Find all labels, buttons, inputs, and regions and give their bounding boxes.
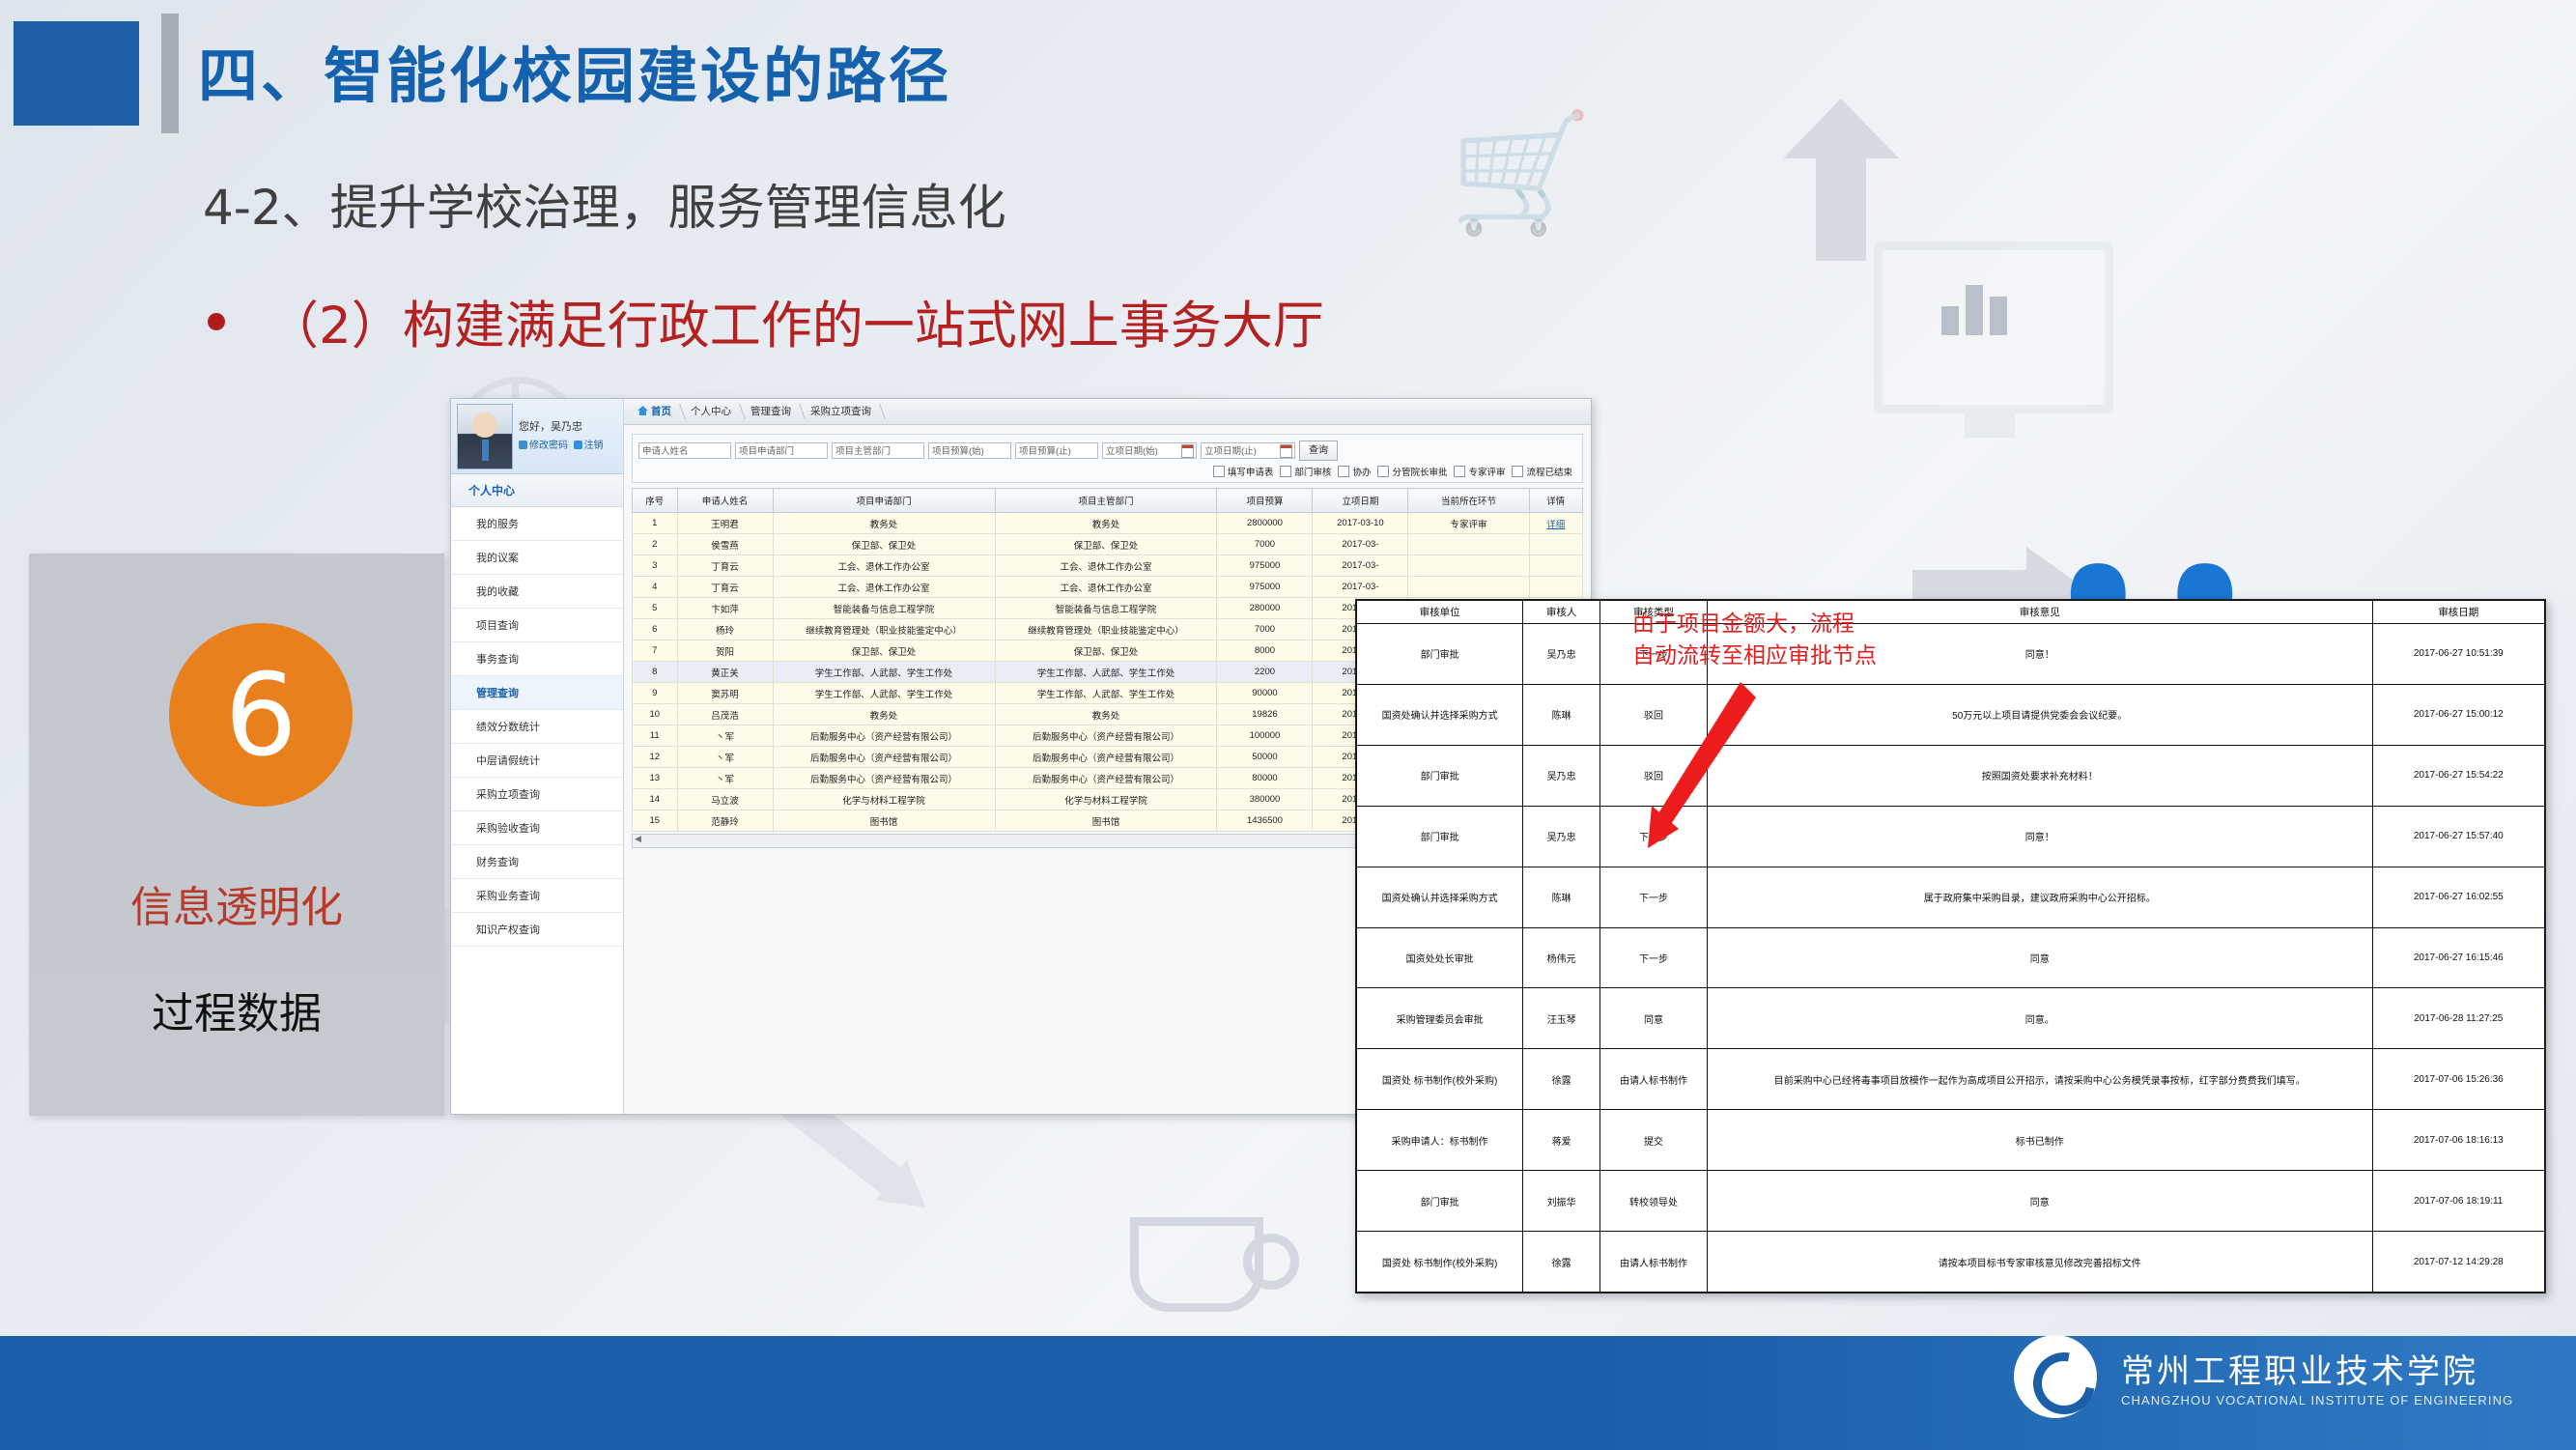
- table-cell: 化学与材料工程学院: [995, 789, 1217, 810]
- table-header-cell: 详情: [1529, 489, 1582, 513]
- approval-cell: 由请人标书制作: [1600, 1049, 1708, 1110]
- filter-input-row: 申请人姓名 项目申请部门 项目主管部门 项目预算(始) 项目预算(止) 立项日期…: [638, 441, 1576, 461]
- approval-cell: 属于政府集中采购目录，建议政府采购中心公开招标。: [1707, 867, 2372, 927]
- table-cell: 2017-03-: [1313, 577, 1408, 598]
- approval-cell: 由请人标书制作: [1600, 1232, 1708, 1293]
- approval-row: 采购申请人：标书制作蒋爱提交标书已制作2017-07-06 18:16:13: [1357, 1110, 2545, 1171]
- table-cell: 1: [633, 513, 678, 534]
- step-number-badge: 6: [169, 623, 353, 807]
- page-title: 四、智能化校园建设的路径: [198, 27, 951, 114]
- table-cell: 8: [633, 662, 678, 683]
- filter-checkbox-4[interactable]: 专家评审: [1454, 465, 1505, 478]
- university-logo: [2014, 1335, 2097, 1418]
- table-header-cell: 项目主管部门: [995, 489, 1217, 513]
- table-cell: 丁育云: [677, 577, 773, 598]
- approval-history-overlay: 审核单位审核人审核类型审核意见审核日期 部门审批吴乃忠下一步同意！2017-06…: [1355, 599, 2546, 1294]
- sidebar-item-3[interactable]: 项目查询: [451, 609, 623, 642]
- table-cell: 专家评审: [1408, 513, 1529, 534]
- approval-cell: 采购管理委员会审批: [1357, 988, 1523, 1049]
- checkbox-box[interactable]: [1454, 466, 1465, 477]
- table-cell: 后勤服务中心（资产经营有限公司）: [995, 768, 1217, 789]
- tab-3[interactable]: 采购立项查询: [803, 402, 883, 421]
- approval-cell: 2017-07-06 15:26:36: [2372, 1049, 2544, 1110]
- table-cell: 975000: [1217, 555, 1313, 577]
- table-cell: 280000: [1217, 598, 1313, 619]
- table-cell: 后勤服务中心（资产经营有限公司）: [773, 725, 995, 747]
- approval-cell: 陈琳: [1523, 684, 1600, 745]
- gear-icon: [519, 441, 527, 449]
- table-cell: 90000: [1217, 683, 1313, 704]
- bar-chart-icon: [1941, 285, 2014, 335]
- table-cell: 3: [633, 555, 678, 577]
- table-cell: 王明君: [677, 513, 773, 534]
- approval-row: 国资处 标书制作(校外采购)徐露由请人标书制作请按本项目标书专家审核意见修改完善…: [1357, 1232, 2545, 1293]
- apply-dept-input[interactable]: 项目申请部门: [735, 442, 828, 459]
- university-name-cn: 常州工程职业技术学院: [2121, 1345, 2478, 1392]
- table-cell: 9: [633, 683, 678, 704]
- table-header-row: 序号申请人姓名项目申请部门项目主管部门项目预算立项日期当前所在环节详情: [633, 489, 1583, 513]
- approval-cell: 转校领导处: [1600, 1171, 1708, 1232]
- table-cell: 图书馆: [773, 810, 995, 832]
- date-to-wrap: 立项日期(止): [1201, 442, 1295, 459]
- filter-checkbox-3[interactable]: 分管院长审批: [1377, 465, 1447, 478]
- approval-header-cell: 审核人: [1523, 601, 1600, 624]
- approval-row: 部门审批吴乃忠下一步同意！2017-06-27 15:57:40: [1357, 806, 2545, 867]
- table-cell: 详细: [1529, 513, 1582, 534]
- checkbox-box[interactable]: [1280, 466, 1291, 477]
- table-cell: 50000: [1217, 747, 1313, 768]
- table-row[interactable]: 1王明君教务处教务处28000002017-03-10专家评审详细: [633, 513, 1583, 534]
- approval-cell: 吴乃忠: [1523, 745, 1600, 806]
- table-cell: 教务处: [773, 513, 995, 534]
- table-cell: 工会、退休工作办公室: [995, 577, 1217, 598]
- logout-icon: [574, 441, 582, 449]
- filter-checkbox-1[interactable]: 部门审核: [1280, 465, 1331, 478]
- sidebar-header: 个人中心: [451, 474, 623, 507]
- approval-row: 部门审批吴乃忠驳回按照国资处要求补充材料！2017-06-27 15:54:22: [1357, 745, 2545, 806]
- table-cell: 吕茂浩: [677, 704, 773, 725]
- table-cell: 保卫部、保卫处: [995, 640, 1217, 662]
- table-cell: 11: [633, 725, 678, 747]
- calendar-icon[interactable]: [1181, 444, 1194, 458]
- approval-cell: 2017-06-27 15:00:12: [2372, 684, 2544, 745]
- approval-cell: 吴乃忠: [1523, 624, 1600, 685]
- approval-cell: 提交: [1600, 1110, 1708, 1171]
- sidebar-item-7[interactable]: 中层请假统计: [451, 744, 623, 778]
- table-cell: 2017-03-10: [1313, 513, 1408, 534]
- sidebar-item-10[interactable]: 财务查询: [451, 845, 623, 879]
- date-from-wrap: 立项日期(始): [1102, 442, 1197, 459]
- table-cell: 窦苏明: [677, 683, 773, 704]
- table-cell: 范静玲: [677, 810, 773, 832]
- filter-checkbox-0[interactable]: 填写申请表: [1213, 465, 1274, 478]
- approval-cell: 目前采购中心已经将毒事项目放模作一起作为高成项目公开招示，请按采购中心公务模凭录…: [1707, 1049, 2372, 1110]
- table-cell: [1408, 534, 1529, 555]
- approval-cell: 国资处确认并选择采购方式: [1357, 867, 1523, 927]
- table-cell: 智能装备与信息工程学院: [773, 598, 995, 619]
- table-cell: 保卫部、保卫处: [773, 640, 995, 662]
- approval-cell: 2017-06-27 10:51:39: [2372, 624, 2544, 685]
- approval-cell: 2017-06-28 11:27:25: [2372, 988, 2544, 1049]
- approval-cell: 2017-06-27 15:54:22: [2372, 745, 2544, 806]
- table-cell: 学生工作部、人武部、学生工作处: [773, 662, 995, 683]
- tab-0[interactable]: 首页: [630, 402, 683, 421]
- table-cell: 工会、退休工作办公室: [773, 577, 995, 598]
- shopping-cart-icon: 🛒: [1449, 106, 1593, 242]
- tab-1[interactable]: 个人中心: [683, 402, 743, 421]
- table-cell: 后勤服务中心（资产经营有限公司）: [995, 725, 1217, 747]
- approval-cell: 2017-06-27 15:57:40: [2372, 806, 2544, 867]
- sidebar-item-1[interactable]: 我的议案: [451, 541, 623, 575]
- search-button[interactable]: 查询: [1299, 441, 1338, 461]
- approval-cell: 部门审批: [1357, 1171, 1523, 1232]
- table-cell: 19826: [1217, 704, 1313, 725]
- approval-row: 部门审批刘振华转校领导处同意2017-07-06 18:19:11: [1357, 1171, 2545, 1232]
- sidebar-item-4[interactable]: 事务查询: [451, 642, 623, 676]
- table-cell: 工会、退休工作办公室: [773, 555, 995, 577]
- table-cell: 保卫部、保卫处: [773, 534, 995, 555]
- table-header-cell: 项目申请部门: [773, 489, 995, 513]
- table-cell: 5: [633, 598, 678, 619]
- approval-cell: 同意。: [1707, 988, 2372, 1049]
- approval-cell: 国资处 标书制作(校外采购): [1357, 1049, 1523, 1110]
- title-accent-bar: [161, 14, 179, 133]
- detail-link[interactable]: 详细: [1546, 520, 1565, 530]
- table-cell: 马立波: [677, 789, 773, 810]
- table-cell: 继续教育管理处（职业技能鉴定中心）: [995, 619, 1217, 640]
- coffee-cup-icon: [1130, 1217, 1263, 1312]
- sidebar-item-5[interactable]: 管理查询: [451, 676, 623, 710]
- table-cell: 8000: [1217, 640, 1313, 662]
- table-cell: [1529, 534, 1582, 555]
- table-cell: 13: [633, 768, 678, 789]
- table-cell: 15: [633, 810, 678, 832]
- university-name-en: CHANGZHOU VOCATIONAL INSTITUTE OF ENGINE…: [2121, 1393, 2513, 1407]
- table-cell: 6: [633, 619, 678, 640]
- table-row[interactable]: 2侯雪燕保卫部、保卫处保卫部、保卫处70002017-03-: [633, 534, 1583, 555]
- approval-cell: 标书已制作: [1707, 1110, 2372, 1171]
- approval-row: 国资处确认并选择采购方式陈琳下一步属于政府集中采购目录，建议政府采购中心公开招标…: [1357, 867, 2545, 927]
- table-cell: 贺阳: [677, 640, 773, 662]
- budget-from-input[interactable]: 项目预算(始): [928, 442, 1011, 459]
- table-cell: 智能装备与信息工程学院: [995, 598, 1217, 619]
- table-header-cell: 立项日期: [1313, 489, 1408, 513]
- approval-cell: 下一步: [1600, 927, 1708, 988]
- table-cell: 学生工作部、人武部、学生工作处: [995, 683, 1217, 704]
- applicant-name-input[interactable]: 申请人姓名: [638, 442, 731, 459]
- approval-cell: 同意: [1707, 1171, 2372, 1232]
- tab-2[interactable]: 管理查询: [743, 402, 803, 421]
- sidebar-item-12[interactable]: 知识产权查询: [451, 913, 623, 947]
- table-cell: 80000: [1217, 768, 1313, 789]
- filter-checkbox-row: 填写申请表部门审核协办分管院长审批专家评审流程已结束: [638, 465, 1576, 478]
- approval-cell: 蒋爱: [1523, 1110, 1600, 1171]
- table-cell: 侯雪燕: [677, 534, 773, 555]
- table-cell: 丶军: [677, 725, 773, 747]
- approval-cell: 徐露: [1523, 1049, 1600, 1110]
- sidebar-item-2[interactable]: 我的收藏: [451, 575, 623, 609]
- approval-cell: 汪玉琴: [1523, 988, 1600, 1049]
- approval-cell: 徐露: [1523, 1232, 1600, 1293]
- approval-cell: 2017-06-27 16:15:46: [2372, 927, 2544, 988]
- table-cell: [1408, 577, 1529, 598]
- table-cell: 教务处: [995, 704, 1217, 725]
- approval-header-row: 审核单位审核人审核类型审核意见审核日期: [1357, 601, 2545, 624]
- page-subtitle: 4-2、提升学校治理，服务管理信息化: [203, 169, 1006, 239]
- bullet-dot-icon: [208, 313, 225, 330]
- table-cell: 后勤服务中心（资产经营有限公司）: [773, 747, 995, 768]
- table-cell: 14: [633, 789, 678, 810]
- approval-table: 审核单位审核人审核类型审核意见审核日期 部门审批吴乃忠下一步同意！2017-06…: [1356, 600, 2545, 1293]
- table-cell: 975000: [1217, 577, 1313, 598]
- budget-to-input[interactable]: 项目预算(止): [1015, 442, 1098, 459]
- approval-row: 部门审批吴乃忠下一步同意！2017-06-27 10:51:39: [1357, 624, 2545, 685]
- table-header-cell: 项目预算: [1217, 489, 1313, 513]
- table-cell: 380000: [1217, 789, 1313, 810]
- table-cell: 丁育云: [677, 555, 773, 577]
- table-cell: 卞如萍: [677, 598, 773, 619]
- avatar: [457, 404, 513, 469]
- sidebar-item-list: 我的服务我的议案我的收藏项目查询事务查询管理查询绩效分数统计中层请假统计采购立项…: [451, 507, 623, 947]
- filter-checkbox-2[interactable]: 协办: [1338, 465, 1371, 478]
- table-cell: 杨玲: [677, 619, 773, 640]
- bullet-line: （2）构建满足行政工作的一站式网上事务大厅: [208, 285, 1324, 358]
- annotation-line-1: 由于项目金额大，流程: [1632, 609, 1877, 640]
- approval-row: 国资处处长审批杨伟元下一步同意2017-06-27 16:15:46: [1357, 927, 2545, 988]
- table-cell: 2800000: [1217, 513, 1313, 534]
- approval-cell: 陈琳: [1523, 867, 1600, 927]
- table-cell: 图书馆: [995, 810, 1217, 832]
- greeting-text: 您好，吴乃忠: [519, 419, 604, 436]
- table-cell: 保卫部、保卫处: [995, 534, 1217, 555]
- approval-header-cell: 审核单位: [1357, 601, 1523, 624]
- table-cell: 2017-03-: [1313, 534, 1408, 555]
- checkbox-box[interactable]: [1512, 466, 1523, 477]
- approval-row: 国资处 标书制作(校外采购)徐露由请人标书制作目前采购中心已经将毒事项目放模作一…: [1357, 1049, 2545, 1110]
- table-header-cell: 申请人姓名: [677, 489, 773, 513]
- user-action-links: 修改密码 注销: [519, 439, 604, 453]
- annotation-line-2: 自动流转至相应审批节点: [1632, 640, 1877, 672]
- approval-cell: 同意: [1707, 927, 2372, 988]
- table-cell: 1436500: [1217, 810, 1313, 832]
- table-cell: [1408, 555, 1529, 577]
- table-cell: [1529, 555, 1582, 577]
- table-cell: 学生工作部、人武部、学生工作处: [773, 683, 995, 704]
- checkbox-box[interactable]: [1213, 466, 1225, 477]
- bullet-text: （2）构建满足行政工作的一站式网上事务大厅: [268, 285, 1324, 358]
- approval-header-cell: 审核日期: [2372, 601, 2544, 624]
- table-cell: 7: [633, 640, 678, 662]
- change-password-link[interactable]: 修改密码: [529, 441, 568, 451]
- filter-checkbox-5[interactable]: 流程已结束: [1512, 465, 1572, 478]
- table-cell: [1529, 577, 1582, 598]
- panel-black-label: 过程数据: [29, 979, 444, 1040]
- table-cell: 黄正关: [677, 662, 773, 683]
- table-cell: 7000: [1217, 619, 1313, 640]
- table-cell: 12: [633, 747, 678, 768]
- approval-cell: 国资处 标书制作(校外采购): [1357, 1232, 1523, 1293]
- table-cell: 工会、退休工作办公室: [995, 555, 1217, 577]
- approval-row: 采购管理委员会审批汪玉琴同意同意。2017-06-28 11:27:25: [1357, 988, 2545, 1049]
- table-cell: 化学与材料工程学院: [773, 789, 995, 810]
- approval-cell: 同意: [1600, 988, 1708, 1049]
- table-cell: 丶军: [677, 747, 773, 768]
- up-arrow-decoration: [1816, 155, 1866, 261]
- approval-cell: 按照国资处要求补充材料！: [1707, 745, 2372, 806]
- table-header-cell: 当前所在环节: [1408, 489, 1529, 513]
- calendar-icon[interactable]: [1280, 444, 1292, 458]
- approval-cell: 同意！: [1707, 806, 2372, 867]
- panel-red-label: 信息透明化: [29, 872, 444, 934]
- sidebar-item-11[interactable]: 采购业务查询: [451, 879, 623, 913]
- user-profile-box: 您好，吴乃忠 修改密码 注销: [451, 399, 623, 474]
- user-meta: 您好，吴乃忠 修改密码 注销: [519, 419, 604, 454]
- table-cell: 2: [633, 534, 678, 555]
- annotation-arrow-icon: [1632, 676, 1787, 850]
- annotation-text: 由于项目金额大，流程 自动流转至相应审批节点: [1632, 609, 1877, 673]
- table-cell: 100000: [1217, 725, 1313, 747]
- approval-body: 部门审批吴乃忠下一步同意！2017-06-27 10:51:39国资处确认并选择…: [1357, 624, 2545, 1293]
- filter-panel: 申请人姓名 项目申请部门 项目主管部门 项目预算(始) 项目预算(止) 立项日期…: [632, 434, 1583, 483]
- approval-cell: 刘振华: [1523, 1171, 1600, 1232]
- table-header-cell: 序号: [633, 489, 678, 513]
- checkbox-box[interactable]: [1338, 466, 1349, 477]
- approval-cell: 下一步: [1600, 867, 1708, 927]
- approval-cell: 2017-06-27 16:02:55: [2372, 867, 2544, 927]
- logout-link[interactable]: 注销: [584, 441, 604, 451]
- approval-cell: 部门审批: [1357, 806, 1523, 867]
- sidebar-item-0[interactable]: 我的服务: [451, 507, 623, 541]
- table-cell: 7000: [1217, 534, 1313, 555]
- checkbox-box[interactable]: [1377, 466, 1389, 477]
- table-cell: 后勤服务中心（资产经营有限公司）: [773, 768, 995, 789]
- sidebar-item-9[interactable]: 采购验收查询: [451, 811, 623, 845]
- approval-cell: 采购申请人：标书制作: [1357, 1110, 1523, 1171]
- table-row[interactable]: 4丁育云工会、退休工作办公室工会、退休工作办公室9750002017-03-: [633, 577, 1583, 598]
- approval-cell: 2017-07-12 14:29:28: [2372, 1232, 2544, 1293]
- approval-row: 国资处确认并选择采购方式陈琳驳回50万元以上项目请提供党委会会议纪要。2017-…: [1357, 684, 2545, 745]
- approval-cell: 2017-07-06 18:16:13: [2372, 1110, 2544, 1171]
- approval-cell: 吴乃忠: [1523, 806, 1600, 867]
- table-cell: 继续教育管理处（职业技能鉴定中心）: [773, 619, 995, 640]
- approval-cell: 杨伟元: [1523, 927, 1600, 988]
- table-cell: 4: [633, 577, 678, 598]
- sidebar-item-6[interactable]: 绩效分数统计: [451, 710, 623, 744]
- sidebar-item-8[interactable]: 采购立项查询: [451, 778, 623, 811]
- approval-cell: 50万元以上项目请提供党委会会议纪要。: [1707, 684, 2372, 745]
- tab-bar: 首页个人中心管理查询采购立项查询: [624, 399, 1591, 425]
- table-cell: 10: [633, 704, 678, 725]
- home-icon: [637, 406, 648, 415]
- approval-cell: 2017-07-06 18:19:11: [2372, 1171, 2544, 1232]
- table-cell: 后勤服务中心（资产经营有限公司）: [995, 747, 1217, 768]
- badge-panel: 6 信息透明化 过程数据: [29, 554, 444, 1116]
- manage-dept-input[interactable]: 项目主管部门: [832, 442, 924, 459]
- table-cell: 2200: [1217, 662, 1313, 683]
- table-cell: 学生工作部、人武部、学生工作处: [995, 662, 1217, 683]
- table-cell: 教务处: [773, 704, 995, 725]
- table-cell: 2017-03-: [1313, 555, 1408, 577]
- title-accent-square: [14, 21, 139, 126]
- approval-cell: 国资处处长审批: [1357, 927, 1523, 988]
- table-cell: 丶军: [677, 768, 773, 789]
- approval-cell: 请按本项目标书专家审核意见修改完善招标文件: [1707, 1232, 2372, 1293]
- app-sidebar: 您好，吴乃忠 修改密码 注销 个人中心 我的服务我的议案我的收藏项目查询事务查询…: [451, 399, 624, 1114]
- approval-cell: 部门审批: [1357, 745, 1523, 806]
- approval-cell: 部门审批: [1357, 624, 1523, 685]
- table-row[interactable]: 3丁育云工会、退休工作办公室工会、退休工作办公室9750002017-03-: [633, 555, 1583, 577]
- table-cell: 教务处: [995, 513, 1217, 534]
- approval-cell: 国资处确认并选择采购方式: [1357, 684, 1523, 745]
